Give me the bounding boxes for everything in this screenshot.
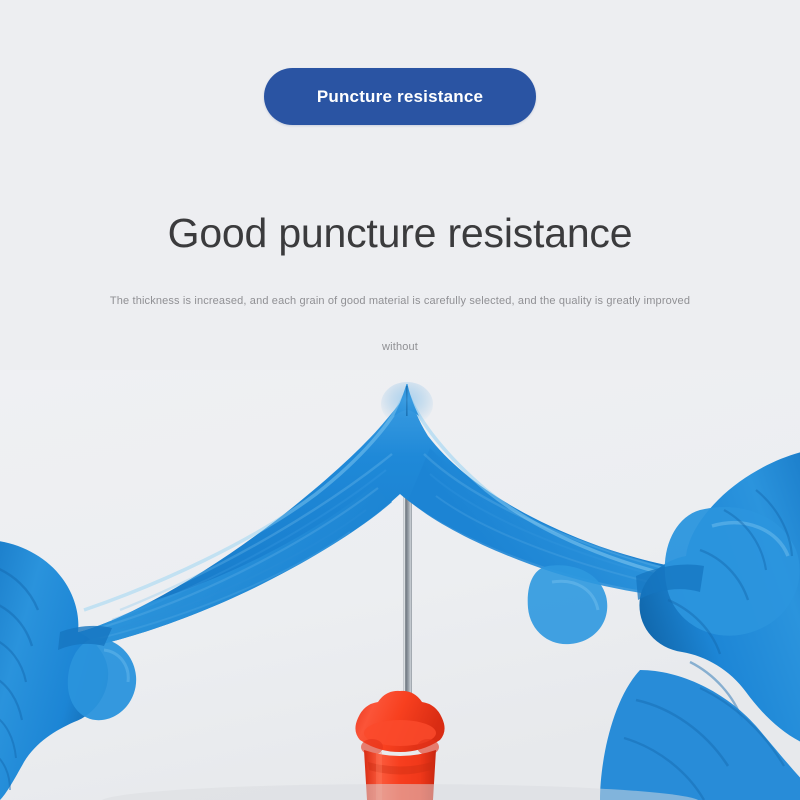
- page-title: Good puncture resistance: [0, 207, 800, 259]
- peak-highlight: [381, 382, 433, 426]
- product-photo: [0, 370, 800, 800]
- badge-label: Puncture resistance: [317, 87, 483, 107]
- badge-row: Puncture resistance: [0, 68, 800, 125]
- puncture-resistance-badge[interactable]: Puncture resistance: [264, 68, 536, 125]
- glove-stretch-illustration: [0, 370, 800, 800]
- product-feature-page: Puncture resistance Good puncture resist…: [0, 0, 800, 800]
- description-line-1: The thickness is increased, and each gra…: [100, 278, 700, 370]
